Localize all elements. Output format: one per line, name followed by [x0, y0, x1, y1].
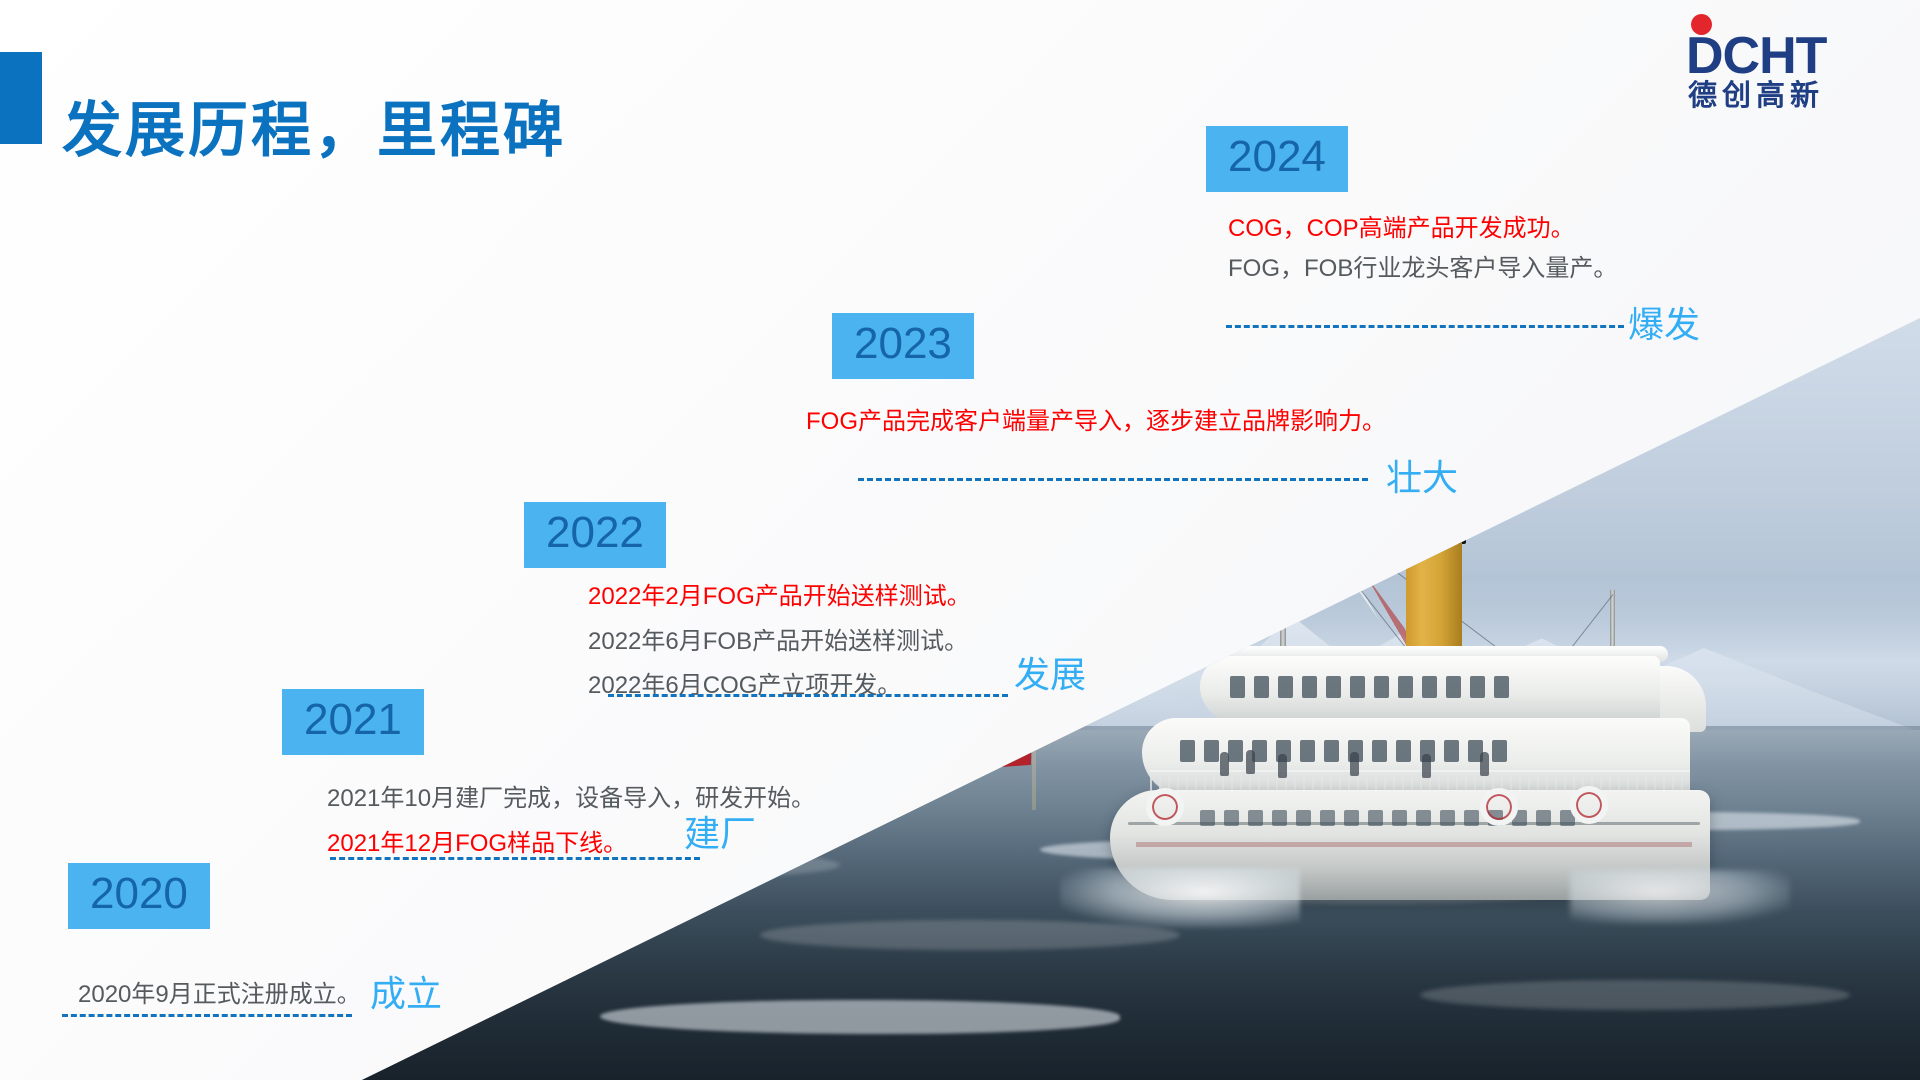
- phase-label-2022: 发展: [1014, 657, 1086, 693]
- year-badge-2020[interactable]: 2020: [68, 863, 210, 929]
- company-logo: DCHT 德创高新: [1686, 8, 1896, 114]
- milestone-line: 2022年2月FOG产品开始送样测试。: [588, 576, 971, 611]
- milestone-line: 2020年9月正式注册成立。: [78, 974, 361, 1009]
- milestone-dash-2020: [62, 1014, 352, 1017]
- milestone-dash-2021: [330, 857, 700, 860]
- milestone-line: 2021年10月建厂完成，设备导入，研发开始。: [327, 778, 815, 813]
- logo-wordmark: DCHT: [1686, 30, 1826, 82]
- milestone-line: COG，COP高端产品开发成功。: [1228, 208, 1575, 243]
- milestone-line: 2021年12月FOG样品下线。: [327, 823, 627, 858]
- year-badge-2021[interactable]: 2021: [282, 689, 424, 755]
- phase-label-2021: 建厂: [684, 816, 756, 852]
- milestone-line: 2022年6月FOB产品开始送样测试。: [588, 621, 968, 656]
- slide-canvas: 发展历程，里程碑 DCHT 德创高新 2024 COG，COP高端产品开发成功。…: [0, 0, 1920, 1080]
- milestone-line: FOG产品完成客户端量产导入，逐步建立品牌影响力。: [806, 401, 1386, 436]
- milestone-line: FOG，FOB行业龙头客户导入量产。: [1228, 248, 1617, 283]
- slide-content: 发展历程，里程碑 DCHT 德创高新 2024 COG，COP高端产品开发成功。…: [0, 0, 1920, 1080]
- phase-label-2020: 成立: [370, 976, 442, 1012]
- milestone-dash-2024: [1226, 325, 1624, 328]
- title-accent-bar: [0, 52, 42, 144]
- logo-chinese-name: 德创高新: [1688, 82, 1824, 111]
- phase-label-2023: 壮大: [1386, 460, 1458, 496]
- year-badge-2022[interactable]: 2022: [524, 502, 666, 568]
- phase-label-2024: 爆发: [1628, 307, 1700, 343]
- year-badge-2024[interactable]: 2024: [1206, 126, 1348, 192]
- milestone-dash-2022: [608, 694, 1008, 697]
- page-title: 发展历程，里程碑: [62, 82, 566, 169]
- year-badge-2023[interactable]: 2023: [832, 313, 974, 379]
- milestone-dash-2023: [858, 478, 1368, 481]
